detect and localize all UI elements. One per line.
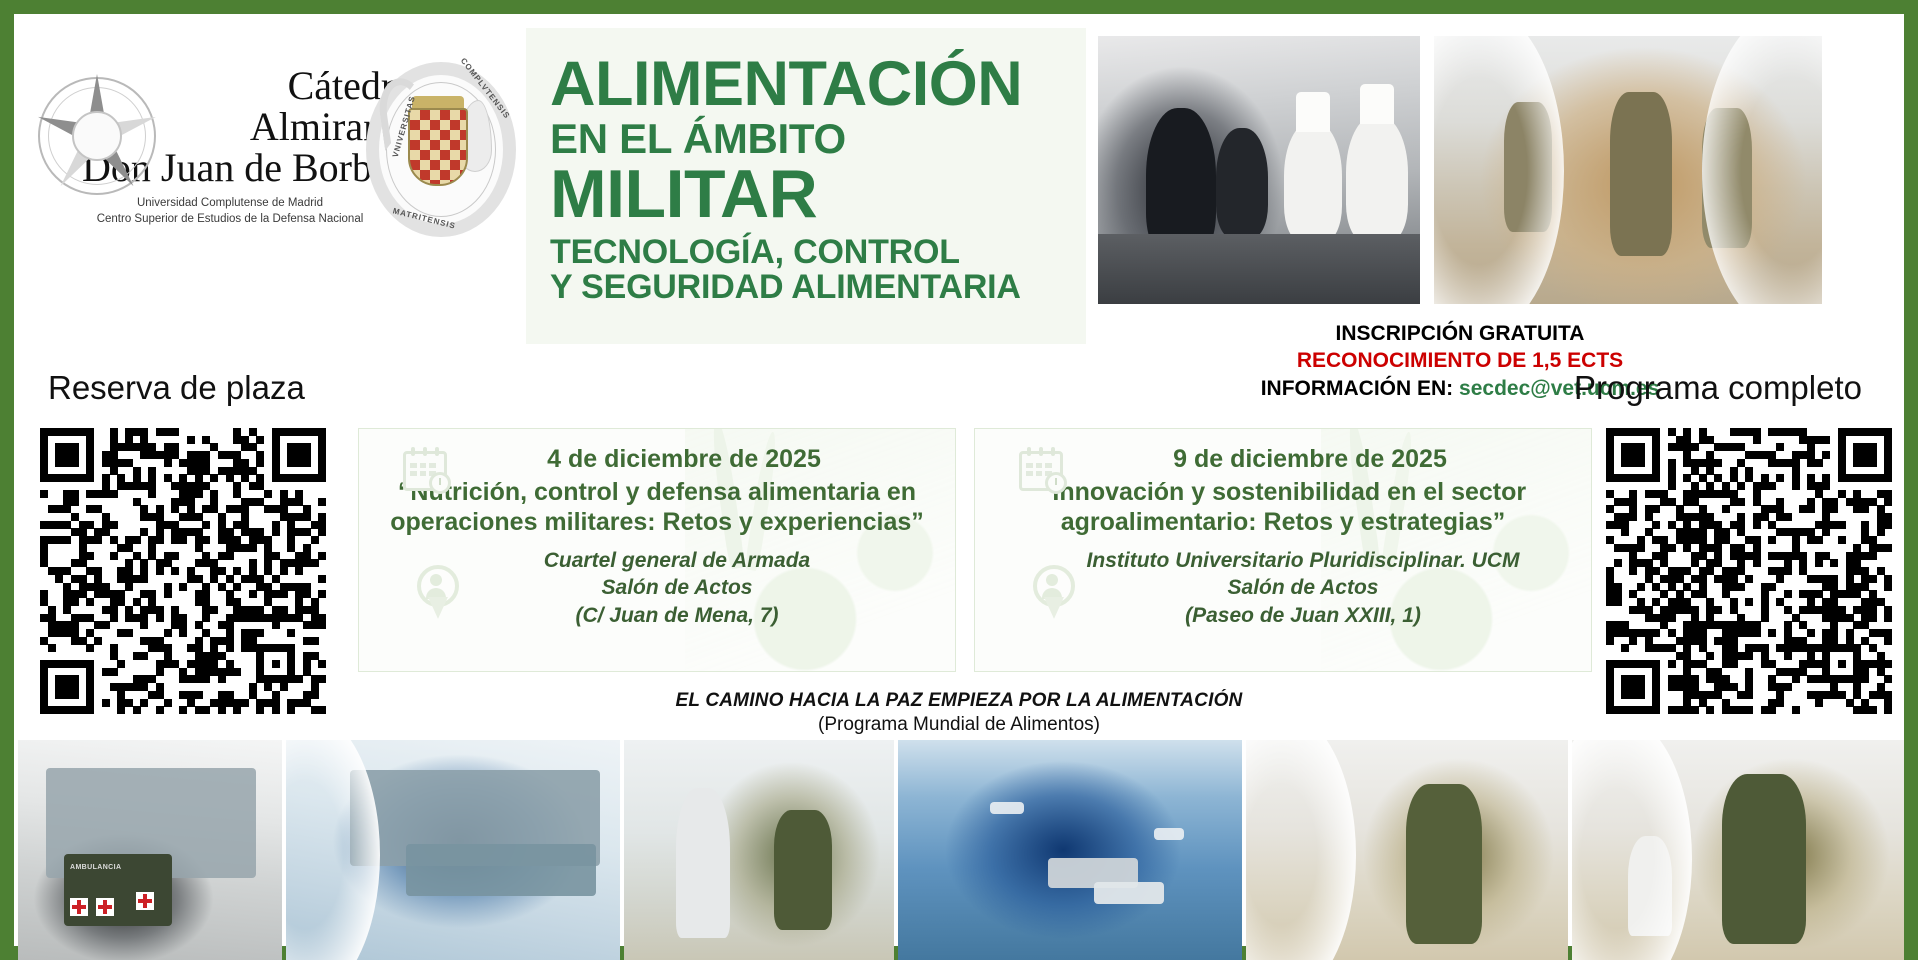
- naval-fleet-ocean-photo: [898, 740, 1242, 960]
- event-1-venue: Cuartel general de Armada Salón de Actos…: [417, 547, 937, 629]
- event-1-title-line-2: operaciones militares: Retos y experienc…: [377, 508, 937, 538]
- ucm-ring-left: VNIVERSITAS: [391, 95, 417, 159]
- calendar-clock-icon: [1019, 447, 1063, 491]
- programa-completo-label: Programa completo: [1574, 369, 1862, 407]
- quote-source: (Programa Mundial de Alimentos): [14, 714, 1904, 736]
- soldier-distribution-photo: [1246, 740, 1568, 960]
- ucm-seal-icon: COMPLVTENSIS VNIVERSITAS MATRITENSIS: [366, 62, 516, 237]
- humanitarian-aid-beach-photo: [624, 740, 894, 960]
- poster-title-block: ALIMENTACIÓN EN EL ÁMBITO MILITAR TECNOL…: [526, 28, 1086, 344]
- header-row: Cátedra Almirante Don Juan de Borbón Uni…: [14, 14, 1904, 344]
- calendar-clock-icon: [403, 447, 447, 491]
- event-2-title: “Innovación y sostenibilidad en el secto…: [993, 478, 1573, 537]
- ucm-ring-top: COMPLVTENSIS: [459, 56, 512, 120]
- catedra-sub-2: Centro Superior de Estudios de la Defens…: [48, 212, 412, 228]
- registration-contact-label: INFORMACIÓN EN:: [1261, 377, 1454, 400]
- peacekeeper-children-photo: [1572, 740, 1904, 960]
- event-1-date: 4 de diciembre de 2025: [431, 445, 937, 474]
- event-1-venue-line-3: (C/ Juan de Mena, 7): [417, 602, 937, 629]
- reserva-de-plaza-label: Reserva de plaza: [48, 369, 305, 407]
- event-2-venue-line-2: Salón de Actos: [1033, 574, 1573, 601]
- programa-completo-qr[interactable]: [1606, 428, 1892, 714]
- location-pin-icon: [417, 565, 459, 623]
- title-line-5: Y SEGURIDAD ALIMENTARIA: [550, 272, 1070, 303]
- event-panel-1: 4 de diciembre de 2025 “Nutrición, contr…: [358, 428, 956, 672]
- event-2-title-line-1: “Innovación y sostenibilidad en el secto…: [993, 478, 1573, 508]
- title-line-1: ALIMENTACIÓN: [550, 56, 1070, 114]
- title-line-2: EN EL ÁMBITO: [550, 120, 1070, 159]
- catedra-almirante-logo: Cátedra Almirante Don Juan de Borbón Uni…: [32, 36, 412, 266]
- naval-landing-craft-photo: [286, 740, 620, 960]
- event-2-date: 9 de diciembre de 2025: [1047, 445, 1573, 474]
- quote-block: EL CAMINO HACIA LA PAZ EMPIEZA POR LA AL…: [14, 690, 1904, 736]
- poster-root: Cátedra Almirante Don Juan de Borbón Uni…: [0, 0, 1918, 960]
- compass-rose-icon: [32, 71, 162, 201]
- event-2-title-line-2: agroalimentario: Retos y estrategias”: [993, 508, 1573, 538]
- location-pin-icon: [1033, 565, 1075, 623]
- event-1-title: “Nutrición, control y defensa alimentari…: [377, 478, 937, 537]
- event-1-title-line-1: “Nutrición, control y defensa alimentari…: [377, 478, 937, 508]
- ucm-ring-bottom: MATRITENSIS: [392, 206, 457, 230]
- desert-patrol-photo: [1434, 36, 1822, 304]
- event-1-venue-line-2: Salón de Actos: [417, 574, 937, 601]
- event-1-venue-line-1: Cuartel general de Armada: [417, 547, 937, 574]
- title-line-3: MILITAR: [550, 163, 1070, 226]
- registration-line-free: INSCRIPCIÓN GRATUITA: [1100, 320, 1820, 347]
- event-2-venue-line-3: (Paseo de Juan XXIII, 1): [1033, 602, 1573, 629]
- military-kitchen-photo: [1098, 36, 1420, 304]
- event-2-venue: Instituto Universitario Pluridisciplinar…: [1033, 547, 1573, 629]
- amphibious-ship-ambulance-photo: AMBULANCIA: [18, 740, 282, 960]
- quote-text: EL CAMINO HACIA LA PAZ EMPIEZA POR LA AL…: [14, 690, 1904, 712]
- bottom-photo-strip: AMBULANCIA: [14, 740, 1904, 960]
- event-2-venue-line-1: Instituto Universitario Pluridisciplinar…: [1033, 547, 1573, 574]
- title-line-4: TECNOLOGÍA, CONTROL: [550, 237, 1070, 268]
- reserva-de-plaza-qr[interactable]: [40, 428, 326, 714]
- event-panel-2: 9 de diciembre de 2025 “Innovación y sos…: [974, 428, 1592, 672]
